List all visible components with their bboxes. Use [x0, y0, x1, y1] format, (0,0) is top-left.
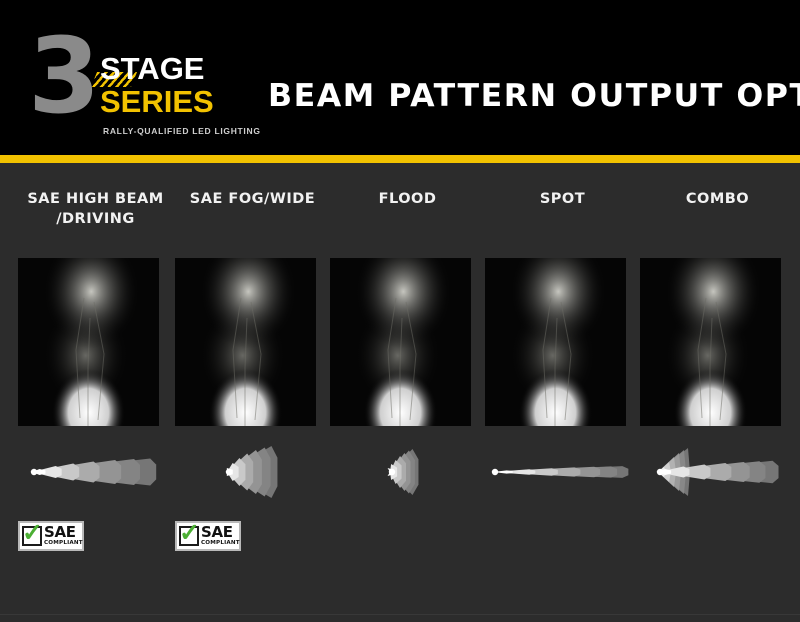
column-label: SAE FOG/WIDE [175, 189, 330, 209]
page-header: 3 STAGE SERIES RALLY-QUALIFIED LED LIGHT… [0, 0, 800, 155]
logo-numeral: 3 [28, 24, 94, 128]
beam-photo-flood[interactable] [330, 258, 471, 426]
beam-photo-combo[interactable] [640, 258, 781, 426]
sae-compliant-badge: ✓ SAE COMPLIANT [18, 521, 84, 551]
beam-diagram-high-beam [18, 441, 173, 503]
badge-secondary-text: COMPLIANT [44, 540, 83, 547]
column-label: SPOT [485, 189, 640, 209]
badge-primary-text: SAE [201, 526, 240, 539]
sae-badge-slot: ✓ SAE COMPLIANT [175, 521, 330, 555]
beam-column-spot[interactable]: SPOT [485, 163, 640, 622]
logo-word-stage: STAGE [100, 54, 245, 84]
beam-column-flood[interactable]: FLOOD [330, 163, 485, 622]
column-label-line2: /DRIVING [56, 211, 135, 227]
badge-secondary-text: COMPLIANT [201, 540, 240, 547]
checkbox-icon: ✓ [22, 526, 42, 546]
beam-photo-spot[interactable] [485, 258, 626, 426]
sae-badge-slot: ✓ SAE COMPLIANT [18, 521, 173, 555]
column-label: SAE HIGH BEAM/DRIVING [18, 189, 173, 229]
beam-diagram-fog-wide [175, 441, 330, 503]
checkbox-icon: ✓ [179, 526, 199, 546]
column-label-line1: COMBO [686, 191, 749, 207]
beam-column-fog-wide[interactable]: SAE FOG/WIDE ✓ SAE COMPLIANT [175, 163, 330, 622]
sae-badge-slot [485, 521, 640, 555]
column-label-line1: SPOT [540, 191, 585, 207]
beam-photo-fog-wide[interactable] [175, 258, 316, 426]
beam-diagram-flood [330, 441, 485, 503]
column-label-line1: SAE HIGH BEAM [27, 191, 163, 207]
beam-diagram-combo [640, 441, 795, 503]
check-icon: ✓ [179, 521, 200, 546]
check-icon: ✓ [22, 521, 43, 546]
footer-edge [0, 614, 800, 622]
sae-compliant-badge: ✓ SAE COMPLIANT [175, 521, 241, 551]
beam-diagram-spot [485, 441, 640, 503]
logo-word-series: SERIES [100, 87, 245, 117]
brand-logo: 3 STAGE SERIES RALLY-QUALIFIED LED LIGHT… [28, 26, 243, 128]
sae-badge-slot [330, 521, 485, 555]
sae-badge-slot [640, 521, 795, 555]
badge-primary-text: SAE [44, 526, 83, 539]
column-label-line1: SAE FOG/WIDE [190, 191, 315, 207]
column-label: FLOOD [330, 189, 485, 209]
page-title: BEAM PATTERN OUTPUT OPTIONS [268, 78, 800, 114]
beam-photo-high-beam[interactable] [18, 258, 159, 426]
beam-column-high-beam[interactable]: SAE HIGH BEAM/DRIVING ✓ SAE COMPLIANT [18, 163, 173, 622]
header-divider [0, 155, 800, 163]
column-label-line1: FLOOD [379, 191, 437, 207]
logo-tagline: RALLY-QUALIFIED LED LIGHTING [103, 126, 261, 136]
beam-column-combo[interactable]: COMBO [640, 163, 795, 622]
beam-options-grid: SAE HIGH BEAM/DRIVING ✓ SAE COMPLIANT SA… [0, 163, 800, 622]
column-label: COMBO [640, 189, 795, 209]
